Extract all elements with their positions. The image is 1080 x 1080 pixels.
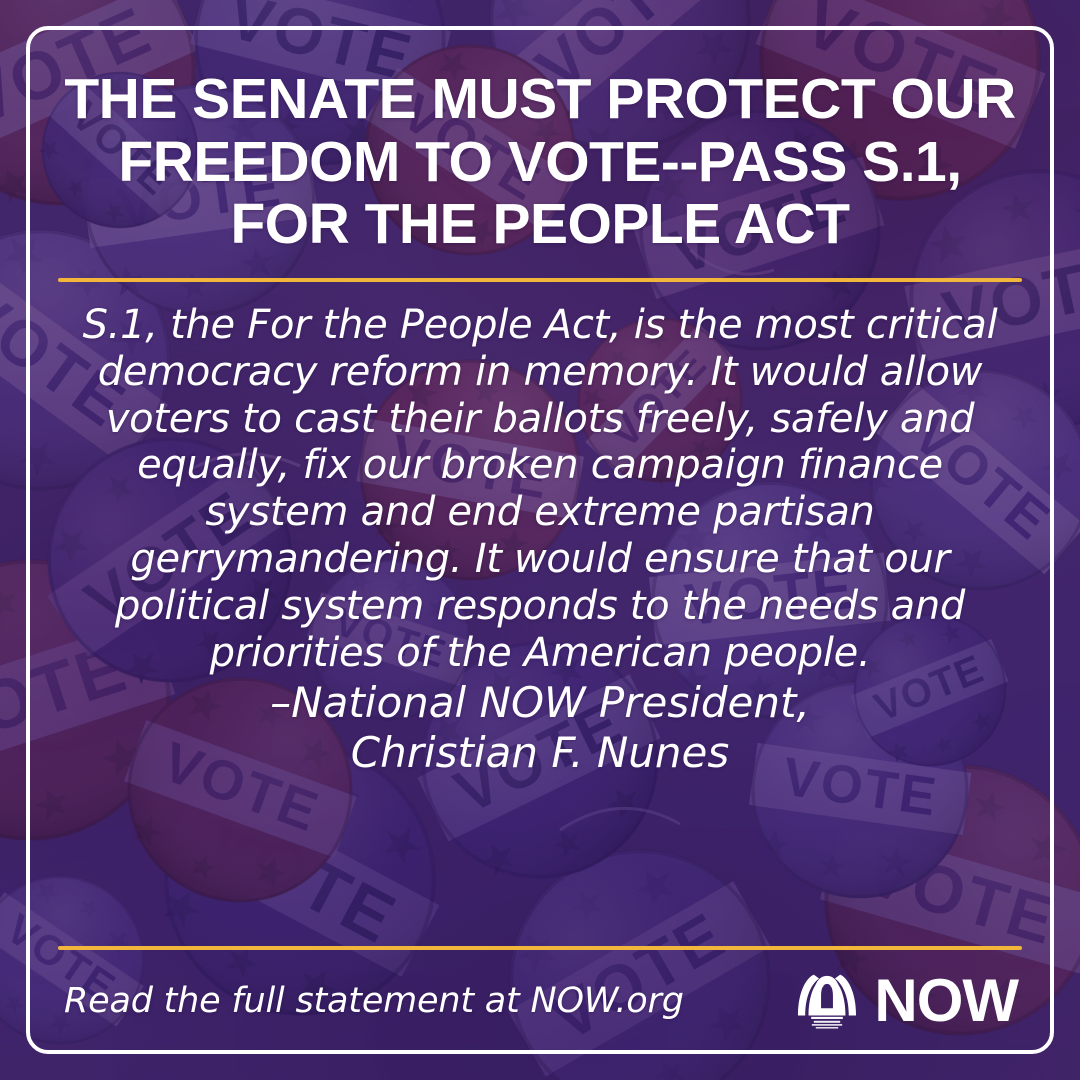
attribution-name: Christian F. Nunes [52,728,1028,778]
attribution-title: –National NOW President, [52,678,1028,728]
statement-quote: S.1, the For the People Act, is the most… [52,302,1028,676]
page-title: THE SENATE MUST PROTECT OUR FREEDOM TO V… [52,68,1028,256]
quote-attribution: –National NOW President, Christian F. Nu… [52,678,1028,777]
read-full-statement-link[interactable]: Read the full statement at NOW.org [64,981,684,1021]
footer-bar: Read the full statement at NOW.org [52,950,1028,1034]
social-graphic-card: VOTE VOTE [0,0,1080,1080]
quote-block: S.1, the For the People Act, is the most… [52,282,1028,946]
now-wordmark: NOW [874,971,1018,1031]
content-container: THE SENATE MUST PROTECT OUR FREEDOM TO V… [0,0,1080,1080]
now-arch-emblem-icon [794,968,860,1034]
now-logo-lockup[interactable]: NOW [794,968,1018,1034]
